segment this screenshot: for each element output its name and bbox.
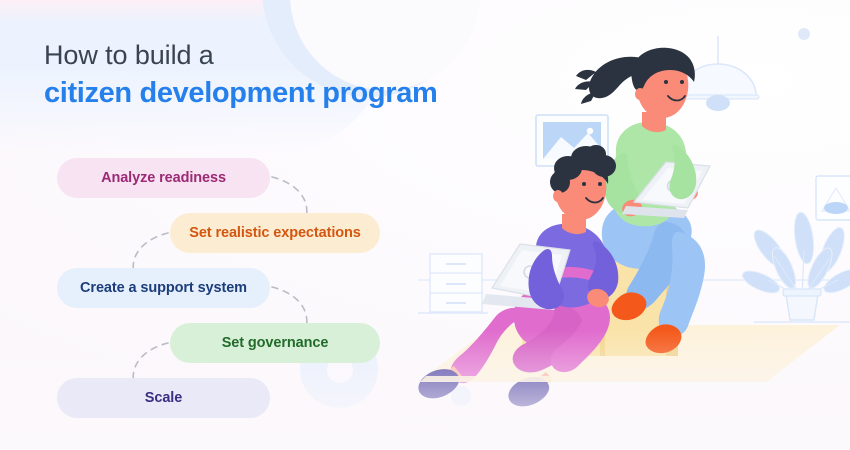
potted-plant-icon bbox=[739, 211, 850, 322]
step-pill-set-realistic-expectations[interactable]: Set realistic expectations bbox=[170, 213, 380, 253]
steps-list: Analyze readiness Set realistic expectat… bbox=[0, 150, 420, 420]
drawer-cabinet-icon bbox=[418, 254, 488, 313]
title-line-1: How to build a bbox=[44, 38, 514, 73]
title-line-2: citizen development program bbox=[44, 75, 514, 112]
step-pill-label: Analyze readiness bbox=[101, 170, 226, 186]
step-pill-set-governance[interactable]: Set governance bbox=[170, 323, 380, 363]
step-pill-create-a-support-system[interactable]: Create a support system bbox=[57, 268, 270, 308]
page-title: How to build a citizen development progr… bbox=[44, 38, 514, 112]
step-pill-label: Set realistic expectations bbox=[189, 225, 360, 241]
step-pill-scale[interactable]: Scale bbox=[57, 378, 270, 418]
illustration-banner: How to build a citizen development progr… bbox=[0, 0, 850, 450]
step-pill-label: Scale bbox=[145, 390, 182, 406]
framed-picture-right-icon bbox=[816, 176, 850, 220]
step-pill-label: Set governance bbox=[222, 335, 329, 351]
step-pill-analyze-readiness[interactable]: Analyze readiness bbox=[57, 158, 270, 198]
step-pill-label: Create a support system bbox=[80, 280, 247, 296]
